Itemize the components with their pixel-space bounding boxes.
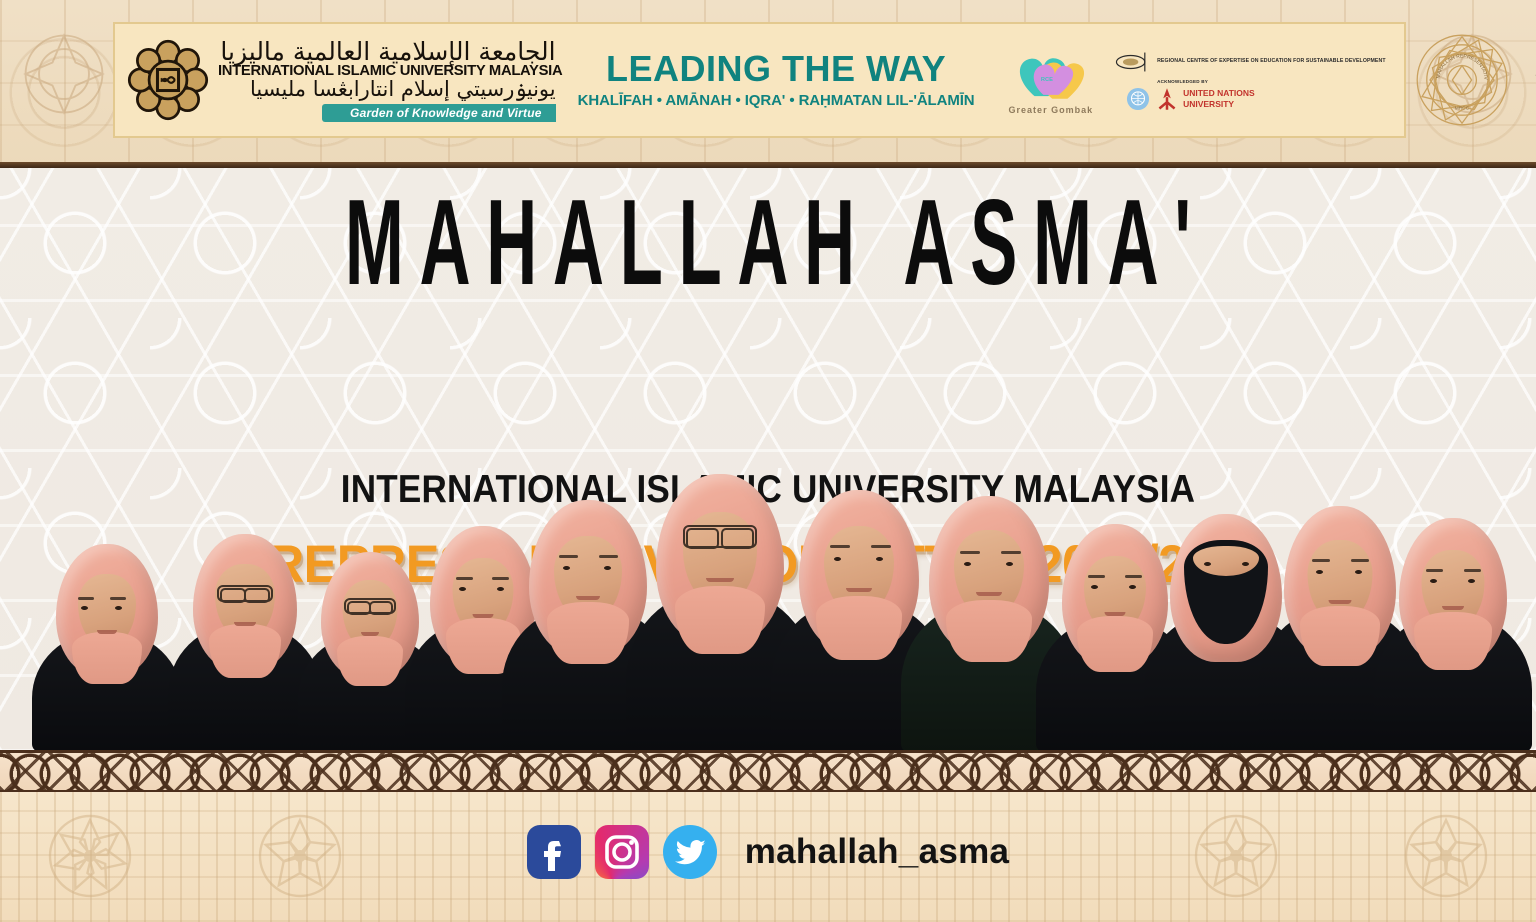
leading-the-way-title: LEADING THE WAY [578, 51, 975, 87]
lattice-pattern [0, 753, 1536, 790]
iium-emblem-icon [125, 37, 211, 123]
svg-text:RCE: RCE [1041, 77, 1053, 83]
poster-body: MAHALLAH ASMA' INTERNATIONAL ISLAMIC UNI… [0, 168, 1536, 752]
social-handle: mahallah_asma [745, 832, 1010, 872]
committee-member [1378, 530, 1528, 752]
leading-the-way-values: KHALĪFAH • AMĀNAH • IQRA' • RAḤMATAN LIL… [578, 92, 975, 109]
twitter-glyph [663, 825, 717, 879]
iium-english-name: INTERNATIONAL ISLAMIC UNIVERSITY MALAYSI… [218, 64, 562, 79]
unu-line-2: UNIVERSITY [1183, 99, 1255, 110]
social-media-row: mahallah_asma [0, 825, 1536, 879]
unu-line-1: UNITED NATIONS [1183, 88, 1255, 99]
rce-unu-group: REGIONAL CENTRE OF EXPERTISE ON EDUCATIO… [1115, 49, 1386, 112]
iium-logo-group: الجامعة الإسلامية العالمية ماليزيا INTER… [125, 37, 556, 123]
leading-the-way-group: LEADING THE WAY KHALĪFAH • AMĀNAH • IQRA… [578, 51, 975, 109]
page-title: MAHALLAH ASMA' [307, 182, 1229, 304]
rosette-ornament-icon [16, 26, 112, 122]
rce-logo-icon [1115, 49, 1151, 75]
ornamental-divider-band [0, 750, 1536, 792]
unu-logo-icon [1156, 87, 1178, 111]
logo-bar: الجامعة الإسلامية العالمية ماليزيا INTER… [113, 22, 1406, 138]
committee-group-photo [0, 452, 1536, 752]
acknowledged-by-label: ACKNOWLEDGED BY [1157, 79, 1386, 84]
rce-description: REGIONAL CENTRE OF EXPERTISE ON EDUCATIO… [1157, 58, 1386, 66]
greater-gombak-heart-icon: RCE [1013, 45, 1089, 103]
mrcc-emblem-icon: MAHALLAH REPRESENTATIVE COMMITTEE COUNCI… [1414, 32, 1510, 128]
iium-tagline-ribbon: Garden of Knowledge and Virtue [322, 104, 556, 122]
iium-jawi-name: يونيۏرسيتي إسلام انتارابڠسا مليسيا [218, 79, 556, 100]
mrcc-logo-group: MAHALLAH REPRESENTATIVE COMMITTEE COUNCI… [1414, 32, 1510, 128]
poster-footer: mahallah_asma [0, 792, 1536, 922]
mrcc-abbr: MRCC [1454, 106, 1469, 112]
facebook-glyph [527, 825, 581, 879]
instagram-icon[interactable] [595, 825, 649, 879]
united-nations-globe-icon [1125, 86, 1151, 112]
facebook-icon[interactable] [527, 825, 581, 879]
twitter-icon[interactable] [663, 825, 717, 879]
iium-arabic-name: الجامعة الإسلامية العالمية ماليزيا [218, 39, 556, 64]
asma-logo-group: أسما [1532, 31, 1536, 129]
instagram-glyph [595, 825, 649, 879]
greater-gombak-group: RCE Greater Gombak [1009, 45, 1094, 115]
committee-member [32, 562, 182, 752]
greater-gombak-label: Greater Gombak [1009, 105, 1094, 115]
poster-canvas: الجامعة الإسلامية العالمية ماليزيا INTER… [0, 0, 1536, 922]
mahallah-asma-emblem-icon: أسما [1532, 31, 1536, 129]
